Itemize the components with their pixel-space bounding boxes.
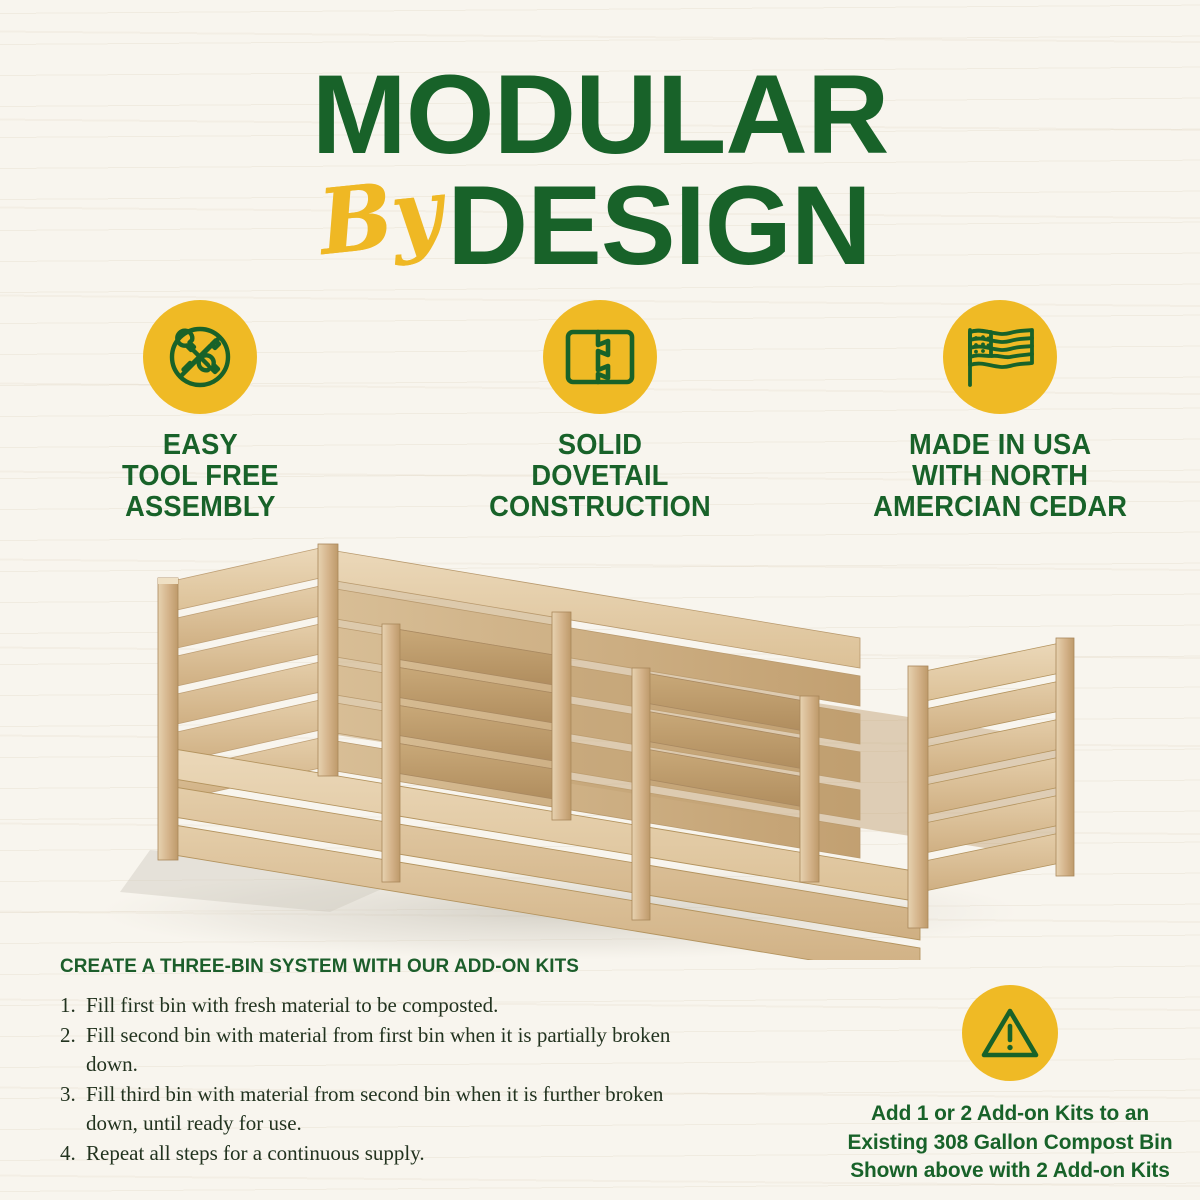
list-item-number: 1. bbox=[60, 991, 86, 1020]
badge-label: MADE IN USA WITH NORTH AMERCIAN CEDAR bbox=[873, 430, 1127, 523]
badge-label-line: MADE IN USA bbox=[873, 430, 1127, 461]
title-line-by-design: DESIGN By bbox=[0, 170, 1200, 278]
add-on-kit-note: Add 1 or 2 Add-on Kits to an Existing 30… bbox=[830, 985, 1190, 1185]
post-left bbox=[158, 578, 178, 860]
note-line: Shown above with 2 Add-on Kits bbox=[835, 1156, 1184, 1185]
badge-circle bbox=[943, 300, 1057, 414]
note-badge-circle bbox=[962, 985, 1058, 1081]
badge-label-line: DOVETAIL bbox=[489, 461, 711, 492]
badge-label-line: SOLID bbox=[489, 430, 711, 461]
list-item-text: Fill third bin with material from second… bbox=[86, 1080, 680, 1138]
dovetail-joint-icon bbox=[564, 328, 636, 386]
badge-label: EASY TOOL FREE ASSEMBLY bbox=[122, 430, 279, 523]
badge-label-line: WITH NORTH bbox=[873, 461, 1127, 492]
badge-made-in-usa: MADE IN USA WITH NORTH AMERCIAN CEDAR bbox=[800, 300, 1200, 523]
feature-badges: EASY TOOL FREE ASSEMBLY SOLID DOVETAIL C… bbox=[0, 300, 1200, 523]
warning-triangle-icon bbox=[979, 1005, 1041, 1061]
post-front-right bbox=[908, 666, 928, 928]
list-item: 2. Fill second bin with material from fi… bbox=[60, 1021, 680, 1079]
badge-label-line: CONSTRUCTION bbox=[489, 492, 711, 523]
infographic-page: MODULAR DESIGN By bbox=[0, 0, 1200, 1200]
post-bin1-rear bbox=[318, 544, 338, 776]
badge-easy-tool-free-assembly: EASY TOOL FREE ASSEMBLY bbox=[0, 300, 400, 523]
steps-list: 1. Fill first bin with fresh material to… bbox=[60, 991, 680, 1168]
product-image-three-bin-compost-system bbox=[0, 520, 1200, 960]
badge-label-line: AMERCIAN CEDAR bbox=[873, 492, 1127, 523]
post-divider-2 bbox=[632, 668, 650, 920]
title-line-modular: MODULAR bbox=[0, 62, 1200, 168]
post-divider-1 bbox=[382, 624, 400, 882]
no-tools-icon bbox=[162, 319, 238, 395]
badge-circle bbox=[543, 300, 657, 414]
note-line: Add 1 or 2 Add-on Kits to an bbox=[835, 1099, 1184, 1128]
badge-circle bbox=[143, 300, 257, 414]
badge-label-line: ASSEMBLY bbox=[122, 492, 279, 523]
usa-flag-icon bbox=[962, 325, 1038, 389]
page-title: MODULAR DESIGN By bbox=[0, 62, 1200, 278]
badge-solid-dovetail-construction: SOLID DOVETAIL CONSTRUCTION bbox=[400, 300, 800, 523]
three-bin-instructions: CREATE A THREE-BIN SYSTEM WITH OUR ADD-O… bbox=[60, 955, 680, 1169]
badge-label-line: EASY bbox=[122, 430, 279, 461]
list-item-number: 3. bbox=[60, 1080, 86, 1138]
list-item-text: Fill second bin with material from first… bbox=[86, 1021, 680, 1079]
badge-label: SOLID DOVETAIL CONSTRUCTION bbox=[489, 430, 711, 523]
post-bin2-rear bbox=[552, 612, 571, 820]
list-item: 1. Fill first bin with fresh material to… bbox=[60, 991, 680, 1020]
title-word-design: DESIGN bbox=[0, 170, 1200, 282]
compost-bin-illustration bbox=[0, 520, 1200, 960]
list-item-number: 2. bbox=[60, 1021, 86, 1079]
note-line: Existing 308 Gallon Compost Bin bbox=[835, 1128, 1184, 1157]
list-item: 3. Fill third bin with material from sec… bbox=[60, 1080, 680, 1138]
post-right-rear bbox=[1056, 638, 1074, 876]
list-item-text: Fill first bin with fresh material to be… bbox=[86, 991, 680, 1020]
title-script-by: By bbox=[314, 158, 446, 276]
post-bin3-rear bbox=[800, 696, 819, 882]
list-item-text: Repeat all steps for a continuous supply… bbox=[86, 1139, 680, 1168]
steps-heading: CREATE A THREE-BIN SYSTEM WITH OUR ADD-O… bbox=[60, 955, 661, 978]
list-item-number: 4. bbox=[60, 1139, 86, 1168]
note-text: Add 1 or 2 Add-on Kits to an Existing 30… bbox=[830, 1099, 1190, 1185]
list-item: 4. Repeat all steps for a continuous sup… bbox=[60, 1139, 680, 1168]
badge-label-line: TOOL FREE bbox=[122, 461, 279, 492]
